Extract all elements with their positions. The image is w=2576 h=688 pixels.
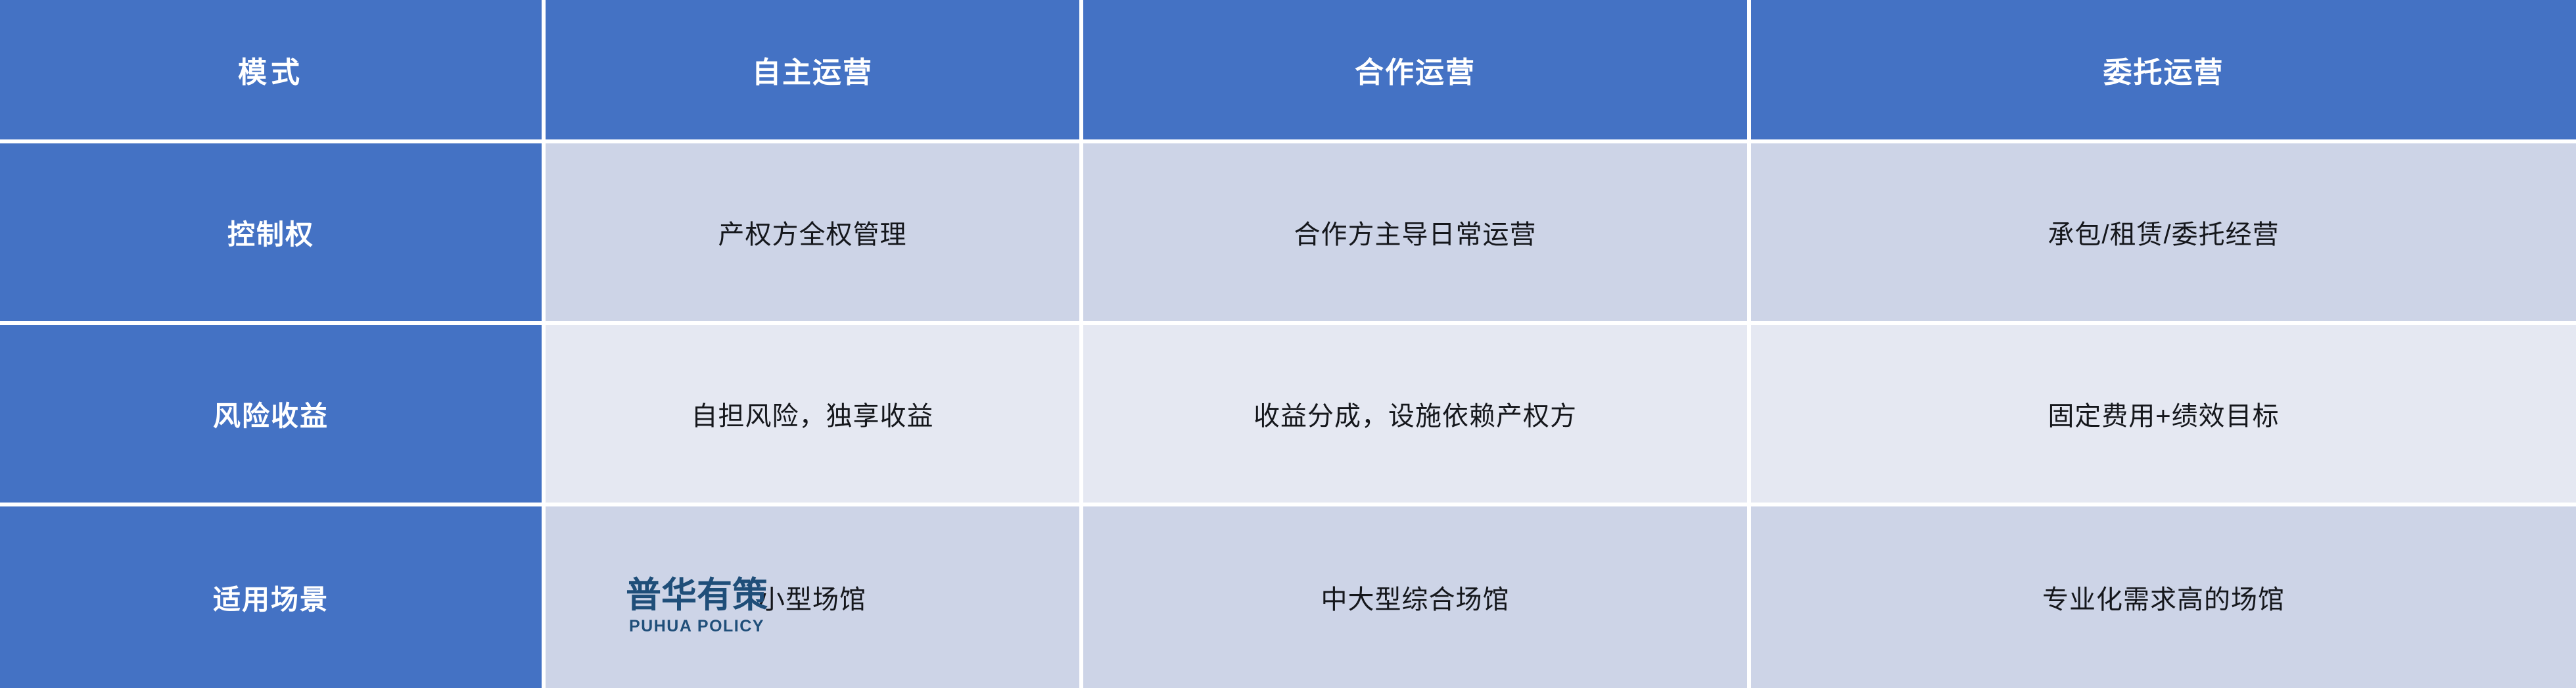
header-cell-self-operation: 自主运营 <box>546 0 1083 143</box>
table-row: 适用场景 小型场馆 中大型综合场馆 专业化需求高的场馆 <box>0 506 2576 688</box>
cell-control-trust: 承包/租赁/委托经营 <box>1751 143 2576 325</box>
cell-risk-trust: 固定费用+绩效目标 <box>1751 325 2576 506</box>
row-label-applicable-scenario: 适用场景 <box>0 506 546 688</box>
table-row: 风险收益 自担风险，独享收益 收益分成，设施依赖产权方 固定费用+绩效目标 <box>0 325 2576 506</box>
table-row: 控制权 产权方全权管理 合作方主导日常运营 承包/租赁/委托经营 <box>0 143 2576 325</box>
operation-mode-comparison-table: 模式 自主运营 合作运营 委托运营 控制权 产权方全权管理 合作方主导日常运营 … <box>0 0 2576 688</box>
cell-risk-coop: 收益分成，设施依赖产权方 <box>1083 325 1751 506</box>
table-header: 模式 自主运营 合作运营 委托运营 <box>0 0 2576 143</box>
header-cell-mode: 模式 <box>0 0 546 143</box>
cell-scenario-self: 小型场馆 <box>546 506 1083 688</box>
cell-control-coop: 合作方主导日常运营 <box>1083 143 1751 325</box>
header-cell-entrusted-operation: 委托运营 <box>1751 0 2576 143</box>
cell-scenario-trust: 专业化需求高的场馆 <box>1751 506 2576 688</box>
table-body: 控制权 产权方全权管理 合作方主导日常运营 承包/租赁/委托经营 风险收益 自担… <box>0 143 2576 688</box>
cell-scenario-coop: 中大型综合场馆 <box>1083 506 1751 688</box>
row-label-risk-return: 风险收益 <box>0 325 546 506</box>
cell-risk-self: 自担风险，独享收益 <box>546 325 1083 506</box>
header-cell-cooperative-operation: 合作运营 <box>1083 0 1751 143</box>
row-label-control-rights: 控制权 <box>0 143 546 325</box>
comparison-table-container: 模式 自主运营 合作运营 委托运营 控制权 产权方全权管理 合作方主导日常运营 … <box>0 0 2576 688</box>
table-header-row: 模式 自主运营 合作运营 委托运营 <box>0 0 2576 143</box>
cell-control-self: 产权方全权管理 <box>546 143 1083 325</box>
